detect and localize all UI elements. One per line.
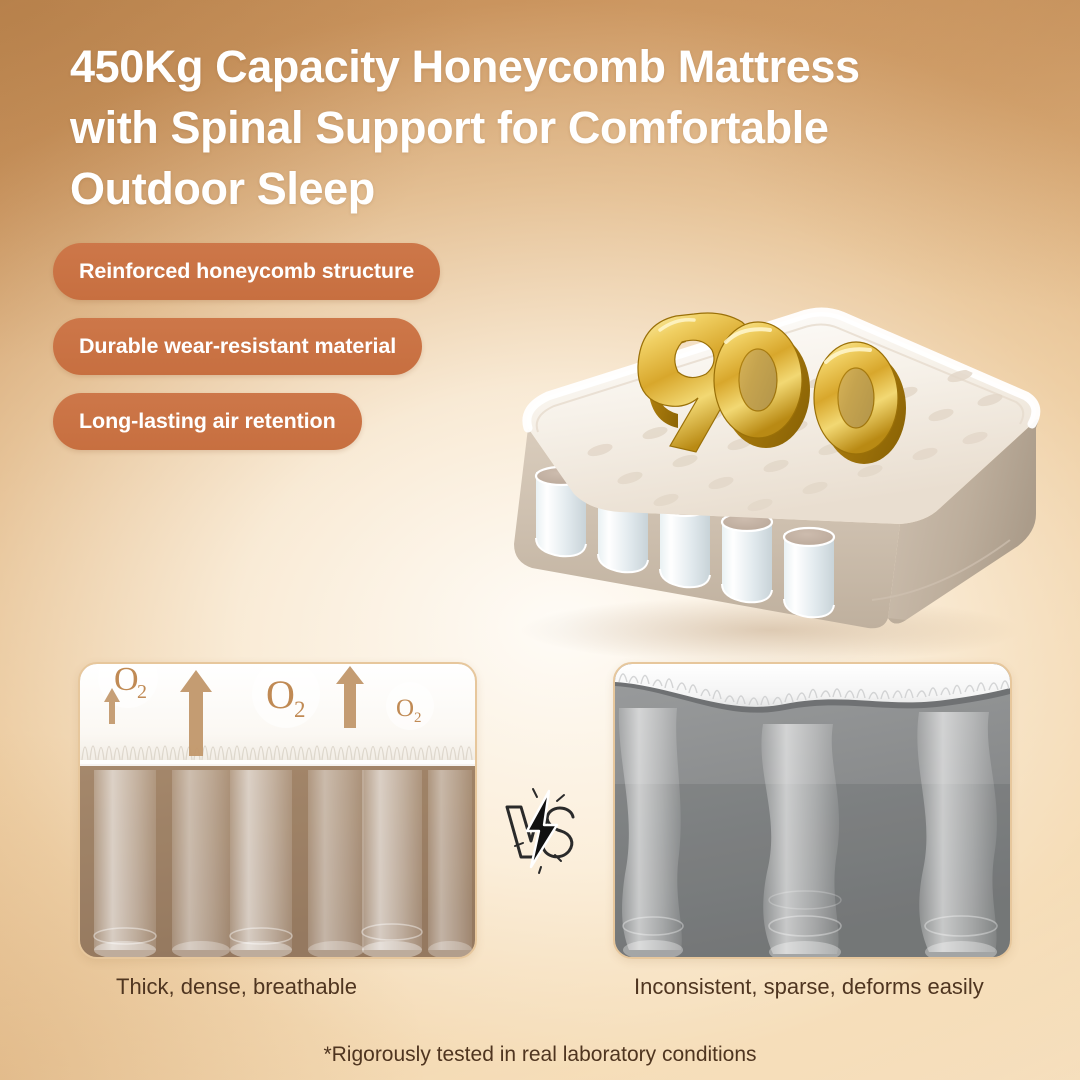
product-marketing-poster: 450Kg Capacity Honeycomb Mattress with S… — [0, 0, 1080, 1080]
headline-line-2: with Spinal Support for Comfortable — [70, 97, 950, 158]
feature-pill-reinforced-honeycomb: Reinforced honeycomb structure — [53, 243, 440, 300]
page-title: 450Kg Capacity Honeycomb Mattress with S… — [70, 36, 950, 219]
air-column — [94, 770, 156, 957]
air-column-group-deformed — [619, 708, 997, 957]
headline-line-1: 450Kg Capacity Honeycomb Mattress — [70, 36, 950, 97]
comparison-panel-right — [613, 662, 1012, 959]
svg-text:2: 2 — [414, 710, 422, 726]
air-column-group-dense — [94, 770, 472, 957]
svg-text:2: 2 — [294, 697, 306, 722]
feature-pill-row: Durable wear-resistant material — [53, 318, 440, 393]
svg-text:O: O — [396, 695, 414, 722]
feature-pill-row: Reinforced honeycomb structure — [53, 243, 440, 318]
hero-mattress-image — [470, 300, 1050, 660]
feature-pill-list: Reinforced honeycomb structure Durable w… — [53, 243, 440, 468]
headline-line-3: Outdoor Sleep — [70, 158, 950, 219]
vs-badge — [497, 783, 589, 875]
air-column-deformed — [917, 712, 997, 957]
feature-pill-air-retention: Long-lasting air retention — [53, 393, 362, 450]
footnote-disclaimer: *Rigorously tested in real laboratory co… — [0, 1043, 1080, 1067]
air-column — [172, 770, 230, 957]
feature-pill-row: Long-lasting air retention — [53, 393, 440, 468]
svg-text:O: O — [266, 672, 295, 717]
air-column — [308, 770, 364, 957]
air-column-deformed — [761, 724, 841, 957]
svg-text:2: 2 — [137, 681, 147, 703]
svg-text:O: O — [114, 664, 139, 698]
air-column — [428, 770, 472, 957]
air-column — [362, 770, 422, 957]
caption-left: Thick, dense, breathable — [116, 972, 516, 1001]
feature-pill-wear-resistant: Durable wear-resistant material — [53, 318, 422, 375]
air-coil-tube — [722, 513, 772, 602]
comparison-panel-left: O 2 O 2 O 2 — [78, 662, 477, 959]
air-column — [230, 770, 292, 957]
air-coil-tube — [784, 528, 834, 617]
caption-right: Inconsistent, sparse, deforms easily — [634, 972, 1014, 1001]
